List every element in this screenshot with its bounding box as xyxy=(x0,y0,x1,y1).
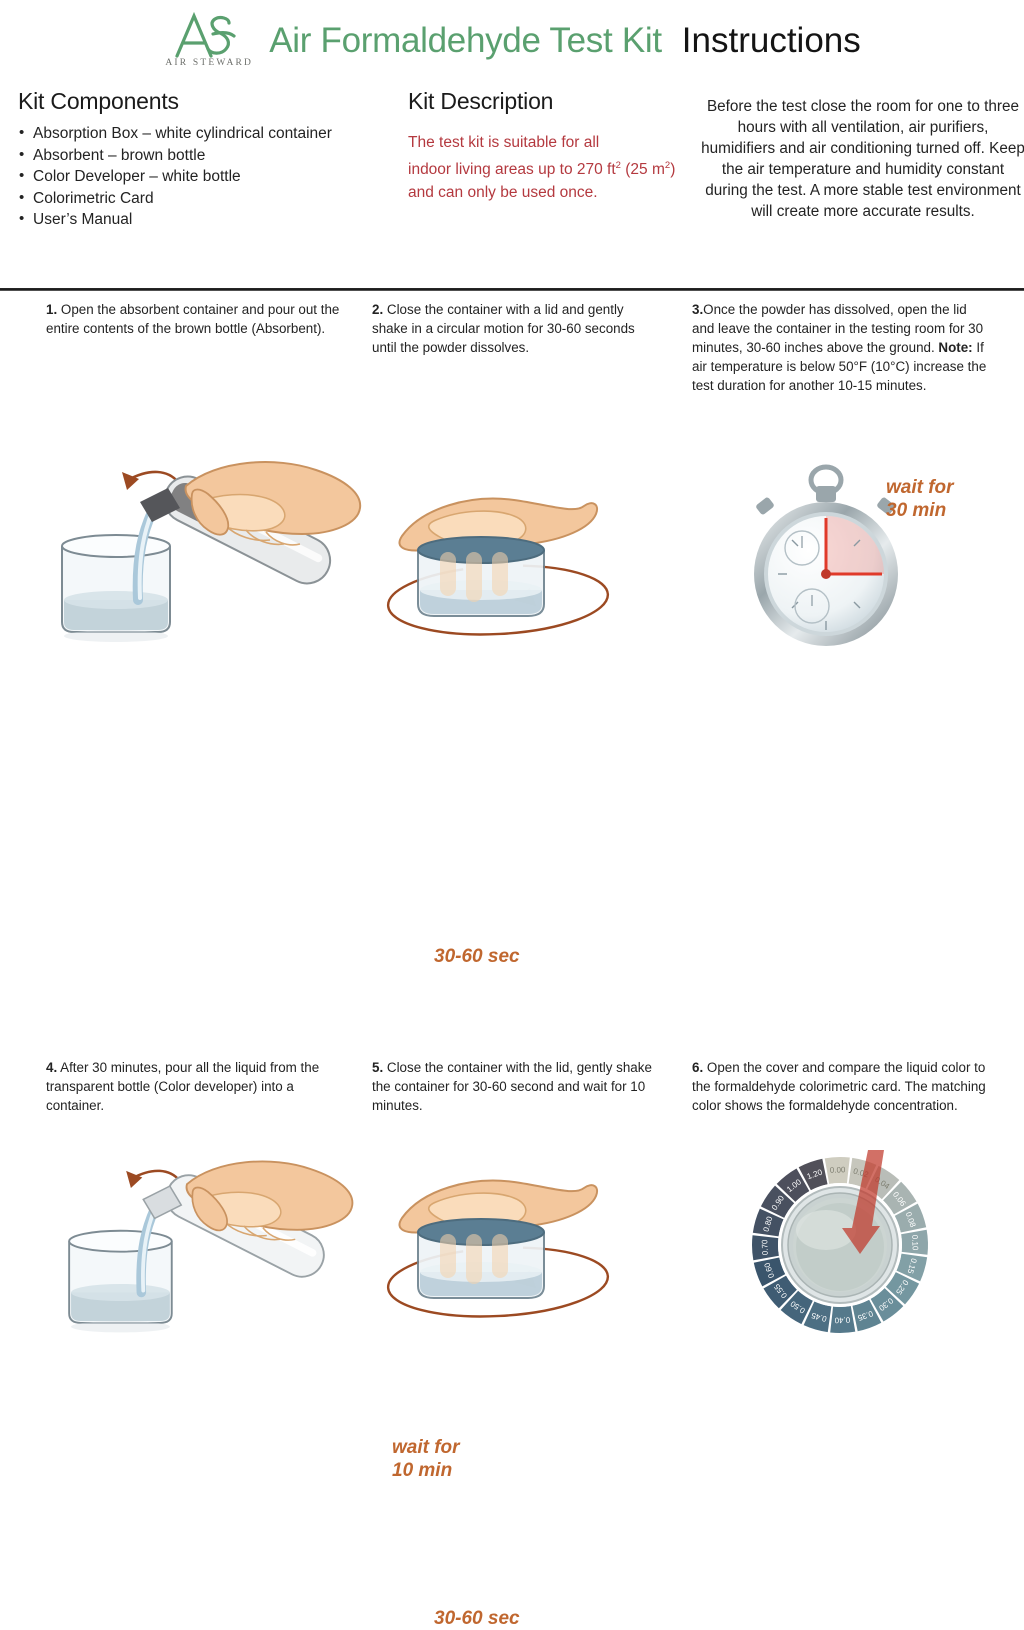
steps-row-2: 4. After 30 minutes, pour all the liquid… xyxy=(0,650,1024,1000)
step-4-body: After 30 minutes, pour all the liquid fr… xyxy=(46,1060,319,1113)
step-5-annotation-line2: 10 min xyxy=(392,1460,452,1481)
list-item: User’s Manual xyxy=(18,209,408,231)
step-1-number: 1. xyxy=(46,302,57,317)
kit-components-list: Absorption Box – white cylindrical conta… xyxy=(18,123,408,231)
colorimetric-card-wheel-illustration: 0.000.020.040.060.080.100.150.250.300.35… xyxy=(722,1150,958,1340)
pre-test-notice-text: Before the test close the room for one t… xyxy=(700,96,1024,222)
hand-pouring-test-tube-into-beaker-illustration xyxy=(40,450,370,650)
step-2-body: Close the container with a lid and gentl… xyxy=(372,302,635,355)
brand-logo: AIR STEWARD xyxy=(163,10,255,72)
wheel-swatch-label: 0.00 xyxy=(830,1165,846,1175)
step-2-text: 2. Close the container with a lid and ge… xyxy=(372,300,662,357)
step-6: 6. Open the cover and compare the liquid… xyxy=(692,1058,992,1115)
step-4-text: 4. After 30 minutes, pour all the liquid… xyxy=(46,1058,346,1115)
pre-test-notice-section: Before the test close the room for one t… xyxy=(700,88,1024,231)
step-6-text: 6. Open the cover and compare the liquid… xyxy=(692,1058,992,1115)
desc-line-3: and can only be used once. xyxy=(408,184,598,201)
step-3-annotation-line2: 30 min xyxy=(886,500,946,521)
as-monogram-icon xyxy=(163,10,255,60)
step-5-body: Close the container with the lid, gently… xyxy=(372,1060,652,1113)
list-item: Absorption Box – white cylindrical conta… xyxy=(18,123,408,145)
steps-container: 1. Open the absorbent container and pour… xyxy=(0,300,1024,1000)
step-5-annotation-line1: wait for xyxy=(392,1437,460,1458)
kit-description-heading: Kit Description xyxy=(408,88,700,115)
step-3: 3.Once the powder has dissolved, open th… xyxy=(692,300,992,395)
step-2-number: 2. xyxy=(372,302,383,317)
desc-line-2a: indoor living areas up to 270 ft xyxy=(408,161,616,178)
steps-row-1: 1. Open the absorbent container and pour… xyxy=(0,300,1024,650)
step-6-body: Open the cover and compare the liquid co… xyxy=(692,1060,986,1113)
wheel-swatch-label: 0.40 xyxy=(834,1315,850,1325)
step-2: 2. Close the container with a lid and ge… xyxy=(372,300,662,357)
step-5-number: 5. xyxy=(372,1060,383,1075)
wheel-swatch-label: 0.10 xyxy=(910,1235,920,1251)
page-header: AIR STEWARD Air Formaldehyde Test Kit In… xyxy=(0,0,1024,74)
kit-components-heading: Kit Components xyxy=(18,88,408,115)
page-title-doc: Instructions xyxy=(682,21,861,61)
step-5: 5. Close the container with the lid, gen… xyxy=(372,1058,662,1115)
step-5-annotation-wait: wait for 10 min xyxy=(392,1436,460,1482)
hand-shaking-container-illustration-step2 xyxy=(378,488,638,653)
page-title-product: Air Formaldehyde Test Kit xyxy=(269,21,662,61)
desc-line-2b: (25 m xyxy=(621,161,665,178)
step-3-annotation-line1: wait for xyxy=(886,477,954,498)
step-3-number: 3. xyxy=(692,302,703,317)
step-3-annotation-wait: wait for 30 min xyxy=(886,476,954,522)
intro-columns: Kit Components Absorption Box – white cy… xyxy=(0,74,1024,231)
wheel-swatch-label: 0.70 xyxy=(760,1239,770,1255)
list-item: Colorimetric Card xyxy=(18,188,408,210)
step-4-number: 4. xyxy=(46,1060,57,1075)
list-item: Absorbent – brown bottle xyxy=(18,145,408,167)
hand-pouring-clear-tube-into-beaker-illustration xyxy=(40,1150,370,1340)
step-4: 4. After 30 minutes, pour all the liquid… xyxy=(46,1058,346,1115)
desc-line-1: The test kit is suitable for all xyxy=(408,134,599,151)
brand-subtitle: AIR STEWARD xyxy=(163,58,255,68)
step-1-body: Open the absorbent container and pour ou… xyxy=(46,302,339,336)
step-5-text: 5. Close the container with the lid, gen… xyxy=(372,1058,662,1115)
section-divider xyxy=(0,288,1024,291)
kit-description-section: Kit Description The test kit is suitable… xyxy=(408,88,700,231)
step-1: 1. Open the absorbent container and pour… xyxy=(46,300,346,338)
step-3-text: 3.Once the powder has dissolved, open th… xyxy=(692,300,992,395)
list-item: Color Developer – white bottle xyxy=(18,166,408,188)
step-5-annotation-sec: 30-60 sec xyxy=(434,1607,520,1630)
kit-description-text: The test kit is suitable for all indoor … xyxy=(408,131,700,204)
desc-line-2c: ) xyxy=(670,161,675,178)
step-1-text: 1. Open the absorbent container and pour… xyxy=(46,300,346,338)
kit-components-section: Kit Components Absorption Box – white cy… xyxy=(18,88,408,231)
hand-shaking-container-illustration-step5 xyxy=(378,1170,638,1335)
instruction-sheet: AIR STEWARD Air Formaldehyde Test Kit In… xyxy=(0,0,1024,988)
step-3-note-label: Note: xyxy=(938,340,972,355)
step-6-number: 6. xyxy=(692,1060,703,1075)
